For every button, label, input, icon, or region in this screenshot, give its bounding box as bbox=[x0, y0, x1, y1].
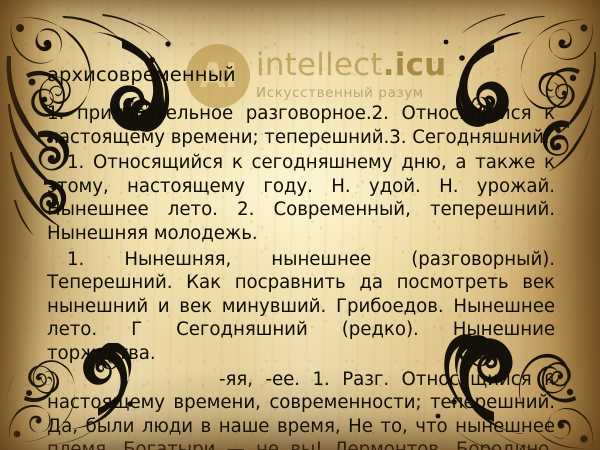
page-title: архисовременный bbox=[47, 62, 555, 88]
dictionary-article: архисовременный 1. прилагательное разгов… bbox=[47, 62, 555, 450]
dictionary-sense: 1. прилагательное разговорное.2. Относящ… bbox=[47, 102, 555, 149]
dictionary-sense: 1. Относящийся к сегодняшнему дню, а так… bbox=[47, 151, 555, 245]
dictionary-slide: AI intellect.icu Искусственный разум арх… bbox=[0, 0, 600, 450]
dictionary-sense: -яя, -ее. 1. Разг. Относящийся к настоящ… bbox=[47, 368, 555, 450]
dictionary-sense: 1. Нынешняя, нынешнее (разговорный). Теп… bbox=[47, 248, 555, 366]
